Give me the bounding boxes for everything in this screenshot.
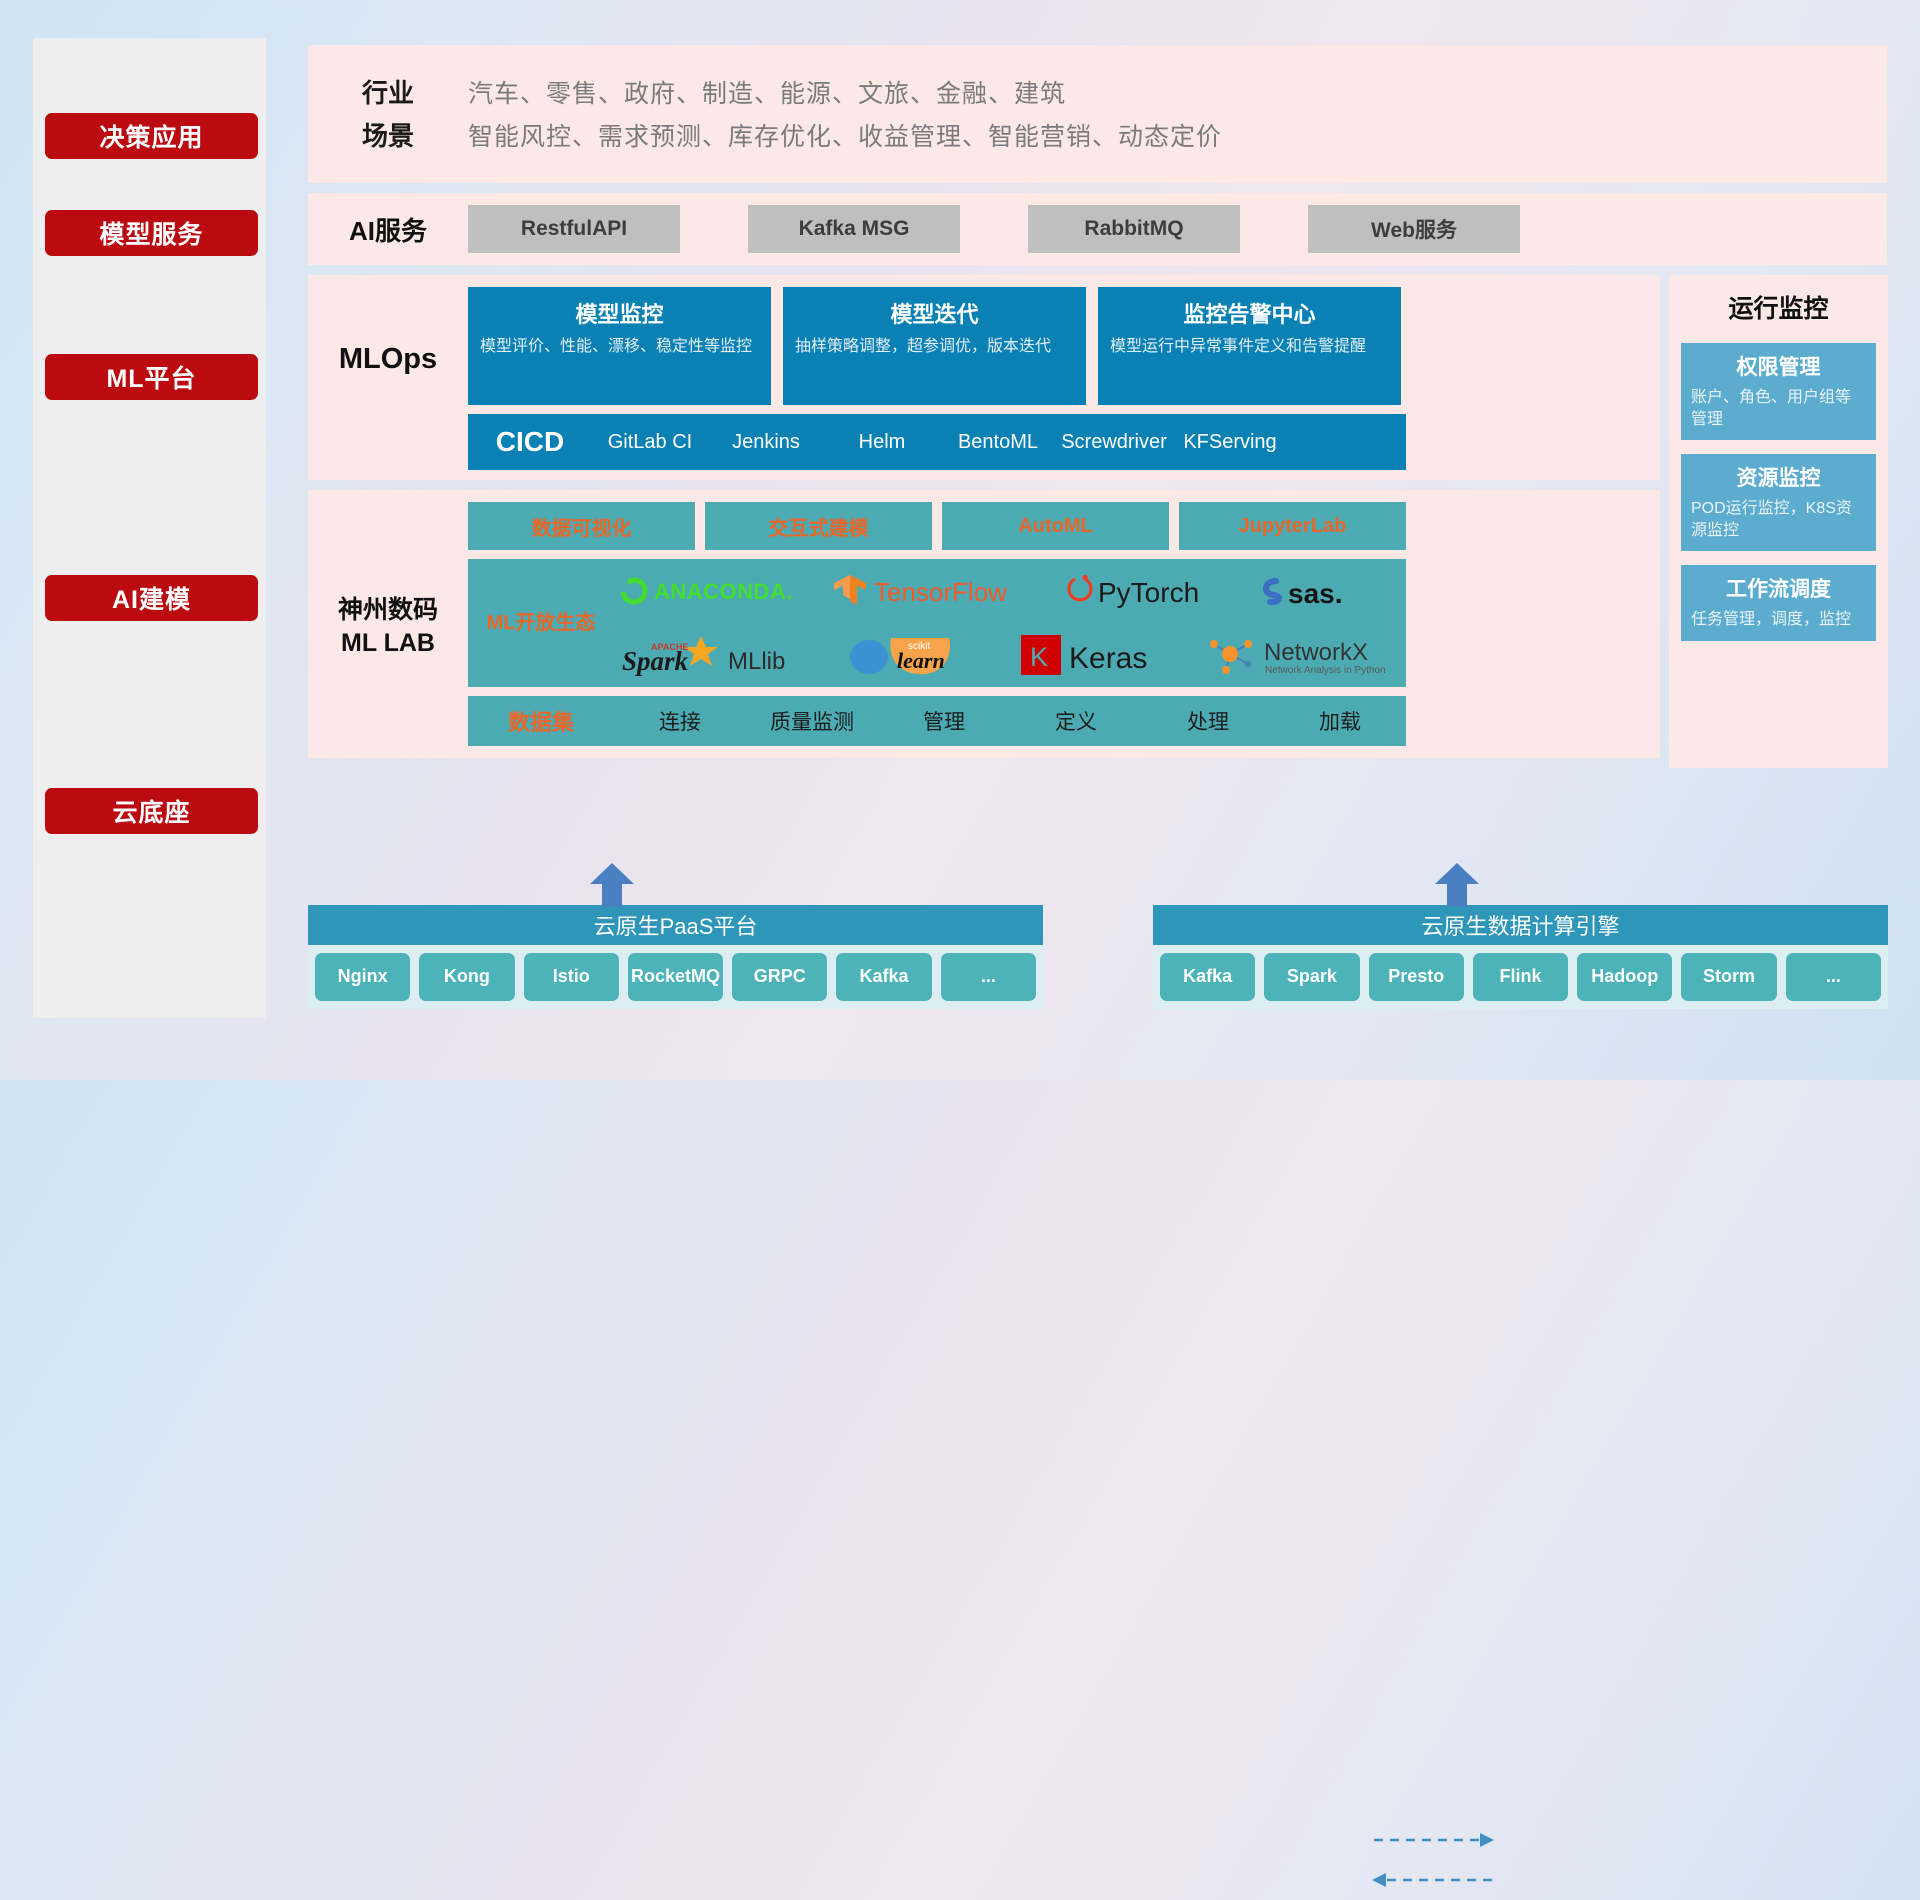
ai-service-label: AI服务 [308,211,468,248]
engine-chip-flink[interactable]: Flink [1473,953,1568,1001]
cicd-title: CICD [468,426,592,458]
ai-service-chip-rabbitmq[interactable]: RabbitMQ [1028,205,1240,253]
svg-text:sas.: sas. [1288,578,1343,609]
cloud-foundation-section: 云原生PaaS平台 Nginx Kong Istio RocketMQ GRPC… [308,885,1888,1015]
mlops-card-title: 监控告警中心 [1110,297,1389,329]
runtime-monitor-panel: 运行监控 权限管理 账户、角色、用户组等管理 资源监控 POD运行监控，K8S资… [1669,275,1888,768]
scikit-learn-logo: scikit learn [841,632,1011,678]
monitor-card-desc: 任务管理，调度，监控 [1691,609,1866,631]
rail-badge-ai-modeling[interactable]: AI建模 [45,575,258,621]
networkx-logo: NetworkX Network Analysis in Python [1202,632,1402,678]
spark-mllib-logo: APACHE Spark MLlib [618,634,833,676]
data-engine-group: 云原生数据计算引擎 Kafka Spark Presto Flink Hadoo… [1153,905,1888,1009]
mlops-card-list: 模型监控 模型评价、性能、漂移、稳定性等监控 模型迭代 抽样策略调整，超参调优，… [468,287,1401,405]
mlops-card-alert-center[interactable]: 监控告警中心 模型运行中异常事件定义和告警提醒 [1098,287,1401,405]
mlops-card-title: 模型监控 [480,297,759,329]
paas-header: 云原生PaaS平台 [308,905,1043,945]
mlops-band: MLOps 模型监控 模型评价、性能、漂移、稳定性等监控 模型迭代 抽样策略调整… [308,275,1660,480]
rail-badge-model-service[interactable]: 模型服务 [45,210,258,256]
architecture-diagram: 决策应用 模型服务 ML平台 AI建模 云底座 行业 汽车、零售、政府、制造、能… [0,0,1920,1080]
mlops-card-title: 模型迭代 [795,297,1074,329]
svg-text:ANACONDA.: ANACONDA. [654,579,793,604]
dataset-title: 数据集 [468,705,614,737]
tool-chip-interactive-modeling[interactable]: 交互式建模 [705,502,932,550]
scenario-value: 智能风控、需求预测、库存优化、收益管理、智能营销、动态定价 [468,117,1222,153]
paas-chip-nginx[interactable]: Nginx [315,953,410,1001]
cicd-tool-screwdriver[interactable]: Screwdriver [1056,431,1172,454]
paas-chip-list: Nginx Kong Istio RocketMQ GRPC Kafka ... [308,945,1043,1009]
left-layer-rail: 决策应用 模型服务 ML平台 AI建模 云底座 [33,38,266,1018]
cicd-bar: CICD GitLab CI Jenkins Helm BentoML Scre… [468,414,1406,470]
ai-service-band: AI服务 RestfulAPI Kafka MSG RabbitMQ Web服务 [308,193,1887,265]
ecosystem-logo-row-2: APACHE Spark MLlib scikit [614,623,1406,687]
rail-badge-decision-app[interactable]: 决策应用 [45,113,258,159]
paas-chip-rocketmq[interactable]: RocketMQ [628,953,723,1001]
monitor-card-desc: 账户、角色、用户组等管理 [1691,387,1866,430]
ml-open-ecosystem-label: ML开放生态 [468,610,614,636]
paas-up-arrow-icon [588,863,636,907]
mlops-card-desc: 模型评价、性能、漂移、稳定性等监控 [480,336,759,358]
svg-text:TensorFlow: TensorFlow [874,577,1007,607]
scenario-row: 场景 智能风控、需求预测、库存优化、收益管理、智能营销、动态定价 [308,116,1887,153]
ai-modeling-band: 神州数码 ML LAB 数据可视化 交互式建模 AutoML JupyterLa… [308,490,1660,758]
keras-logo: K Keras [1019,633,1194,677]
engine-chip-spark[interactable]: Spark [1264,953,1359,1001]
cicd-tool-kfserving[interactable]: KFServing [1172,431,1288,454]
main-column: 行业 汽车、零售、政府、制造、能源、文旅、金融、建筑 场景 智能风控、需求预测、… [308,45,1888,768]
ml-lab-label-cn: 神州数码 [308,594,468,627]
monitor-card-title: 权限管理 [1691,351,1866,381]
dataset-row: 数据集 连接 质量监测 管理 定义 处理 加载 [468,696,1406,746]
mlops-card-desc: 抽样策略调整，超参调优，版本迭代 [795,336,1074,358]
scenario-label: 场景 [308,116,468,153]
paas-chip-istio[interactable]: Istio [524,953,619,1001]
tool-chip-data-visualization[interactable]: 数据可视化 [468,502,695,550]
monitor-card-title: 资源监控 [1691,462,1866,492]
paas-chip-grpc[interactable]: GRPC [732,953,827,1001]
monitor-card-desc: POD运行监控，K8S资源监控 [1691,498,1866,541]
mlops-label: MLOps [308,287,468,376]
svg-text:MLlib: MLlib [728,648,785,675]
bidirectional-dashed-connector-icon [1368,1820,1498,1900]
monitor-card-title: 工作流调度 [1691,573,1866,603]
svg-text:PyTorch: PyTorch [1098,577,1199,608]
cicd-tool-helm[interactable]: Helm [824,431,940,454]
industry-label: 行业 [308,73,468,110]
paas-group: 云原生PaaS平台 Nginx Kong Istio RocketMQ GRPC… [308,905,1043,1009]
dataset-item-load[interactable]: 加载 [1274,706,1406,736]
rail-badge-ml-platform[interactable]: ML平台 [45,354,258,400]
engine-chip-more[interactable]: ... [1786,953,1881,1001]
ecosystem-logo-row-1: ANACONDA. TensorFlow [614,559,1406,623]
industry-scenario-band: 行业 汽车、零售、政府、制造、能源、文旅、金融、建筑 场景 智能风控、需求预测、… [308,45,1887,183]
dataset-item-define[interactable]: 定义 [1010,706,1142,736]
engine-chip-storm[interactable]: Storm [1681,953,1776,1001]
engine-chip-hadoop[interactable]: Hadoop [1577,953,1672,1001]
svg-text:K: K [1030,642,1048,672]
mlops-card-desc: 模型运行中异常事件定义和告警提醒 [1110,336,1389,358]
paas-chip-more[interactable]: ... [941,953,1036,1001]
platform-left-column: MLOps 模型监控 模型评价、性能、漂移、稳定性等监控 模型迭代 抽样策略调整… [308,275,1660,768]
dataset-item-quality[interactable]: 质量监测 [746,706,878,736]
tensorflow-logo: TensorFlow [830,572,1056,610]
ai-service-chip-kafka-msg[interactable]: Kafka MSG [748,205,960,253]
sas-logo: sas. [1254,572,1404,610]
svg-text:NetworkX: NetworkX [1264,639,1368,666]
mlops-card-model-monitoring[interactable]: 模型监控 模型评价、性能、漂移、稳定性等监控 [468,287,771,405]
monitor-card-workflow[interactable]: 工作流调度 任务管理，调度，监控 [1681,565,1876,641]
modeling-tool-row: 数据可视化 交互式建模 AutoML JupyterLab [468,502,1406,550]
dataset-item-connect[interactable]: 连接 [614,706,746,736]
monitor-card-resource[interactable]: 资源监控 POD运行监控，K8S资源监控 [1681,454,1876,551]
runtime-monitor-title: 运行监控 [1681,289,1876,325]
pytorch-logo: PyTorch [1060,572,1250,610]
ai-service-chip-restfulapi[interactable]: RestfulAPI [468,205,680,253]
paas-chip-kong[interactable]: Kong [419,953,514,1001]
svg-text:Network Analysis in Python: Network Analysis in Python [1265,665,1386,676]
cicd-tool-bentoml[interactable]: BentoML [940,431,1056,454]
platform-section: MLOps 模型监控 模型评价、性能、漂移、稳定性等监控 模型迭代 抽样策略调整… [308,275,1888,768]
engine-chip-presto[interactable]: Presto [1369,953,1464,1001]
mlops-card-model-iteration[interactable]: 模型迭代 抽样策略调整，超参调优，版本迭代 [783,287,1086,405]
tool-chip-jupyterlab[interactable]: JupyterLab [1179,502,1406,550]
engine-header: 云原生数据计算引擎 [1153,905,1888,945]
cicd-tool-jenkins[interactable]: Jenkins [708,431,824,454]
ai-service-chip-web-service[interactable]: Web服务 [1308,205,1520,253]
ml-lab-label: 神州数码 ML LAB [308,502,468,659]
dataset-item-process[interactable]: 处理 [1142,706,1274,736]
industry-value: 汽车、零售、政府、制造、能源、文旅、金融、建筑 [468,74,1066,110]
ai-service-chip-list: RestfulAPI Kafka MSG RabbitMQ Web服务 [468,205,1520,253]
monitor-card-permission[interactable]: 权限管理 账户、角色、用户组等管理 [1681,343,1876,440]
engine-chip-list: Kafka Spark Presto Flink Hadoop Storm ..… [1153,945,1888,1009]
engine-up-arrow-icon [1433,863,1481,907]
anaconda-logo: ANACONDA. [616,574,826,608]
industry-row: 行业 汽车、零售、政府、制造、能源、文旅、金融、建筑 [308,73,1887,110]
ml-open-ecosystem: ML开放生态 ANACONDA. [468,559,1406,687]
engine-chip-kafka[interactable]: Kafka [1160,953,1255,1001]
svg-text:Keras: Keras [1069,642,1147,675]
dataset-item-manage[interactable]: 管理 [878,706,1010,736]
svg-text:learn: learn [897,648,945,673]
cicd-tool-gitlab-ci[interactable]: GitLab CI [592,431,708,454]
svg-text:Spark: Spark [622,646,689,676]
ml-lab-label-en: ML LAB [308,627,468,660]
rail-badge-cloud-base[interactable]: 云底座 [45,788,258,834]
paas-chip-kafka[interactable]: Kafka [836,953,931,1001]
tool-chip-automl[interactable]: AutoML [942,502,1169,550]
